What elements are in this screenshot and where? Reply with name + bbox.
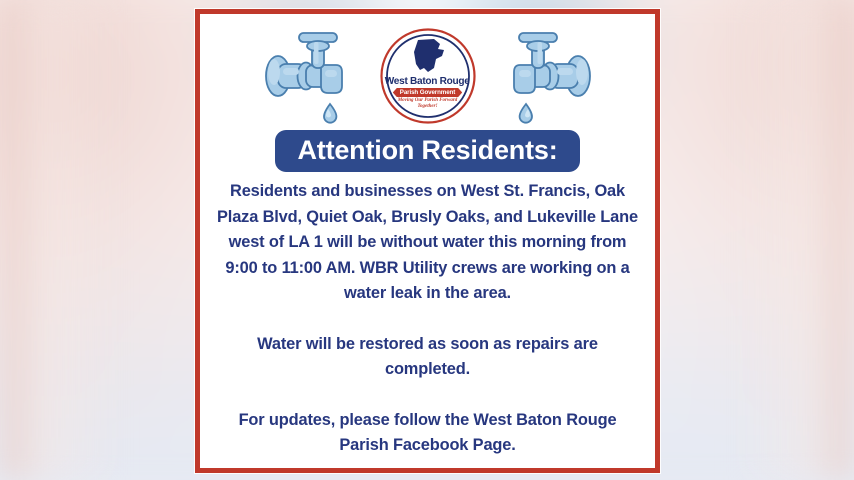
poster-inner: West Baton Rouge Parish Government Movin… — [200, 14, 655, 468]
screenshot-stage: West Baton Rouge Parish Government Movin… — [0, 0, 854, 480]
headline-row: Attention Residents: — [210, 130, 645, 172]
announcement-poster: West Baton Rouge Parish Government Movin… — [195, 9, 660, 473]
headline-banner: Attention Residents: — [275, 130, 579, 172]
faucet-dripping-icon — [500, 24, 604, 128]
body-paragraph: Residents and businesses on West St. Fra… — [216, 179, 639, 306]
poster-body: Residents and businesses on West St. Fra… — [210, 179, 645, 459]
faucet-dripping-icon — [252, 24, 356, 128]
body-paragraph: Water will be restored as soon as repair… — [216, 332, 639, 383]
parish-seal-icon: West Baton Rouge Parish Government Movin… — [380, 28, 476, 124]
body-paragraph: For updates, please follow the West Bato… — [216, 408, 639, 459]
poster-header: West Baton Rouge Parish Government Movin… — [210, 20, 645, 128]
